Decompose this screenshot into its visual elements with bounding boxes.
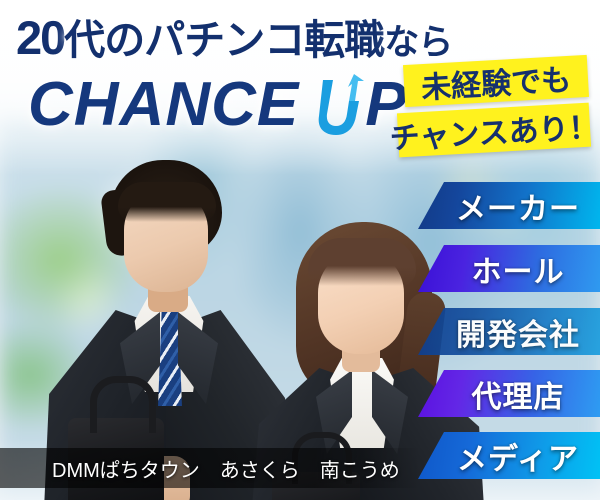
chance-up-logo: CHANCEP: [28, 74, 408, 136]
headline-number: 20: [16, 11, 64, 64]
caption-bar: DMMぱちタウン あさくら 南こうめ: [0, 448, 420, 488]
category-button-agency[interactable]: 代理店: [418, 370, 600, 417]
male-fringe: [118, 182, 216, 222]
badge-no-experience-label: 未経験でも: [420, 55, 572, 107]
headline-tail: なら: [384, 23, 452, 62]
logo-letter-u-accent: [315, 74, 365, 136]
caption-text: DMMぱちタウン あさくら 南こうめ: [0, 454, 400, 483]
category-button-development-company[interactable]: 開発会社: [418, 308, 600, 355]
banner-ad[interactable]: 20代のパチンコ転職なら CHANCEP 未経験でも チャンスあり！ メーカー …: [0, 0, 600, 500]
headline: 20代のパチンコ転職なら: [16, 14, 436, 61]
category-label-media: メディア: [418, 434, 600, 478]
category-label-hall: ホール: [418, 247, 600, 291]
category-label-agency: 代理店: [418, 372, 600, 416]
category-label-maker: メーカー: [418, 184, 600, 228]
category-button-hall[interactable]: ホール: [418, 245, 600, 292]
category-button-media[interactable]: メディア: [418, 432, 600, 479]
badge-no-experience: 未経験でも: [403, 55, 589, 107]
headline-middle: 代のパチンコ転職: [64, 17, 384, 63]
category-button-maker[interactable]: メーカー: [418, 182, 600, 229]
category-label-development-company: 開発会社: [418, 310, 600, 354]
logo-word-chance: CHANCE: [28, 70, 299, 139]
female-fringe: [308, 238, 416, 286]
